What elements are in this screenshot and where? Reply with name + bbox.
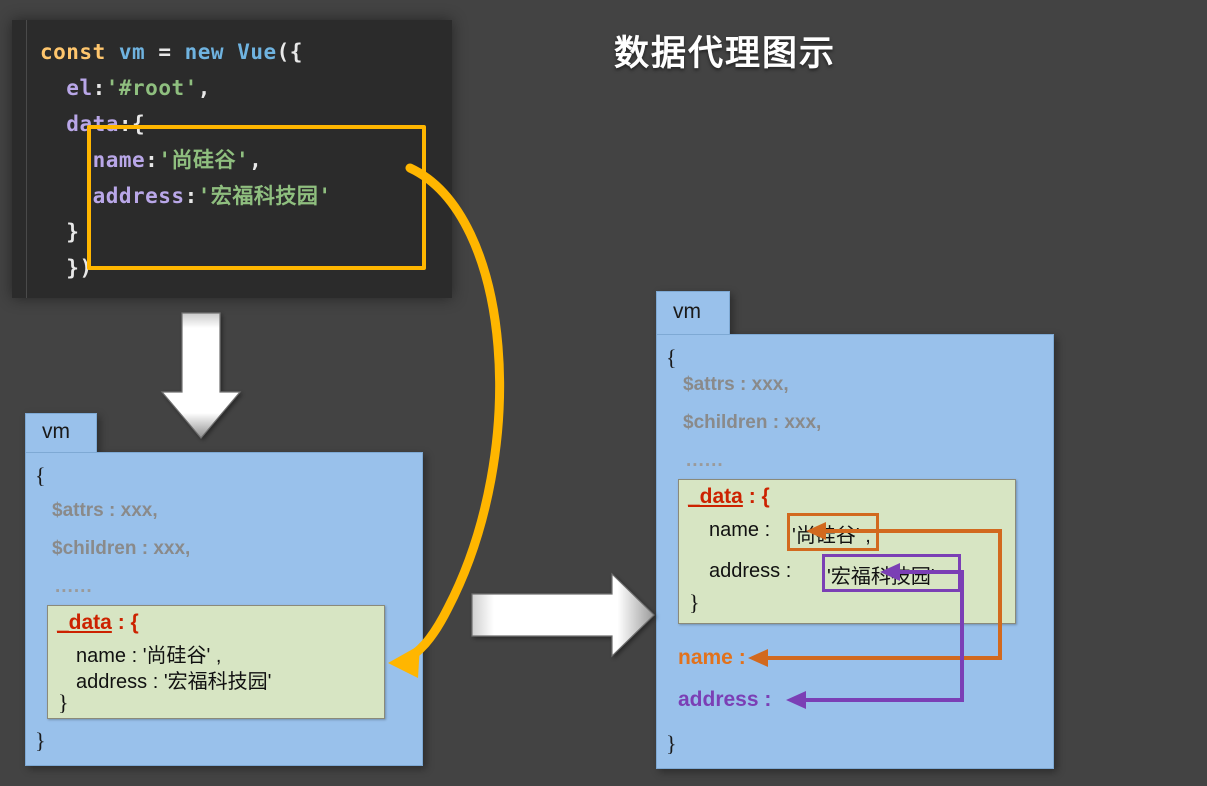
right-block-arrow: [472, 574, 654, 656]
data-key-left: _data : {: [57, 611, 139, 635]
data-box-left: _data : { name : '尚硅谷' , address : '宏福科技…: [47, 605, 385, 719]
vm-open-brace-left: {: [35, 463, 46, 489]
code-token: [40, 148, 93, 172]
code-token: }: [66, 220, 79, 244]
data-close-brace-left: }: [58, 690, 69, 716]
code-token: '#root': [106, 76, 198, 100]
code-token: [224, 40, 237, 64]
code-token: [40, 76, 66, 100]
code-line: const vm = new Vue({: [40, 34, 448, 70]
code-token: data: [66, 112, 119, 136]
vm-row-attrs-right: $attrs : xxx,: [683, 374, 789, 396]
data-key-text-right: _data: [688, 485, 743, 508]
code-token: Vue: [237, 40, 276, 64]
code-token: '宏福科技园': [198, 184, 332, 208]
code-line: el:'#root',: [40, 70, 448, 106]
vm-row-attrs-left: $attrs : xxx,: [52, 500, 158, 522]
code-token: [40, 256, 66, 280]
data-key-text-left: _data: [57, 611, 112, 634]
code-token: [106, 40, 119, 64]
vm-box-right: vm { $attrs : xxx, $children : xxx, ....…: [656, 291, 1056, 771]
code-panel: const vm = new Vue({ el:'#root', data:{ …: [12, 20, 452, 298]
data-entry-name-left: name : '尚硅谷' ,: [76, 639, 221, 668]
code-token: ,: [198, 76, 211, 100]
vm-ellipsis-left: ......: [55, 576, 93, 598]
vm-close-brace-right: }: [666, 731, 677, 757]
proxy-prop-name: name :: [678, 646, 746, 670]
code-line: name:'尚硅谷',: [40, 142, 448, 178]
code-token: [40, 220, 66, 244]
data-entry-address-label-right: address :: [709, 560, 791, 583]
name-value-highlight-right: [787, 513, 879, 551]
code-line: }): [40, 250, 448, 286]
data-box-right: _data : { name : '尚硅谷' , address : '宏福科技…: [678, 479, 1016, 624]
code-line: }: [40, 214, 448, 250]
code-token: :: [185, 184, 198, 208]
data-entry-address-left: address : '宏福科技园': [76, 665, 271, 694]
code-token: :{: [119, 112, 145, 136]
code-line: address:'宏福科技园': [40, 178, 448, 214]
vm-tab-label-right: vm: [673, 300, 701, 324]
address-value-highlight-right: [822, 554, 961, 592]
code-token: vm: [119, 40, 145, 64]
vm-row-children-left: $children : xxx,: [52, 538, 190, 560]
code-token: address: [93, 184, 185, 208]
data-key-suffix-left: : {: [112, 611, 139, 634]
code-gutter: [26, 20, 27, 298]
data-close-brace-right: }: [689, 590, 700, 616]
code-token: ,: [249, 148, 262, 172]
proxy-prop-address: address :: [678, 688, 771, 712]
code-token: el: [66, 76, 92, 100]
code-line: data:{: [40, 106, 448, 142]
code-token: name: [93, 148, 146, 172]
code-token: :: [145, 148, 158, 172]
vm-box-left: vm { $attrs : xxx, $children : xxx, ....…: [25, 413, 425, 765]
code-lines: const vm = new Vue({ el:'#root', data:{ …: [40, 34, 448, 286]
code-token: const: [40, 40, 106, 64]
code-token: '尚硅谷': [158, 148, 249, 172]
diagram-canvas: const vm = new Vue({ el:'#root', data:{ …: [0, 0, 1207, 786]
code-token: [40, 112, 66, 136]
code-token: new: [185, 40, 224, 64]
code-token: :: [93, 76, 106, 100]
data-key-suffix-right: : {: [743, 485, 770, 508]
vm-row-children-right: $children : xxx,: [683, 412, 821, 434]
code-token: =: [145, 40, 184, 64]
code-token: [40, 184, 93, 208]
data-key-right: _data : {: [688, 485, 770, 509]
vm-open-brace-right: {: [666, 345, 677, 371]
vm-tab-label-left: vm: [42, 420, 70, 444]
page-title: 数据代理图示: [560, 25, 890, 76]
vm-ellipsis-right: ......: [686, 450, 724, 472]
code-token: ({: [277, 40, 303, 64]
data-entry-name-label-right: name :: [709, 519, 770, 542]
vm-close-brace-left: }: [35, 728, 46, 754]
code-token: }): [66, 256, 92, 280]
